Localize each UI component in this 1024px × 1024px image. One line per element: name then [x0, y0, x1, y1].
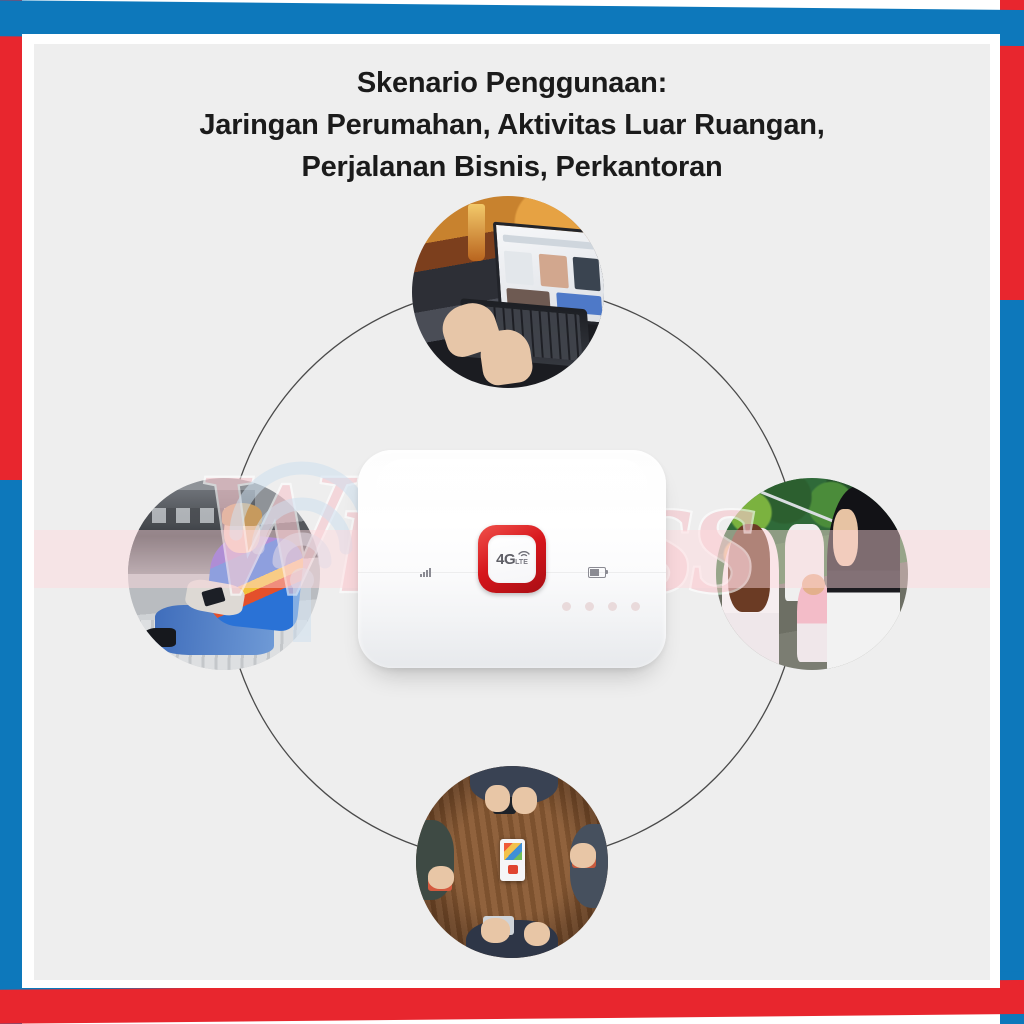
shoe: [143, 628, 176, 647]
hand-2: [512, 787, 537, 814]
laptop-desk-photo: [412, 196, 604, 388]
router-button: [508, 865, 518, 874]
led-2: [585, 602, 594, 611]
led-1: [562, 602, 571, 611]
4g-text: 4G: [496, 551, 515, 568]
group-around-table-photo: [416, 766, 608, 958]
frame-left-red-band: [0, 0, 22, 1024]
scenario-bubble-outdoor[interactable]: [716, 478, 908, 670]
router-on-table: [500, 839, 525, 881]
hand-6: [524, 922, 551, 947]
hair: [222, 503, 262, 526]
scenario-bubble-office[interactable]: [412, 196, 604, 388]
scenario-bubble-business-travel[interactable]: [128, 478, 320, 670]
product-card: Skenario Penggunaan: Jaringan Perumahan,…: [0, 0, 1024, 1024]
frame-right-blue-band: [1000, 300, 1024, 1024]
hand-5: [481, 918, 510, 943]
battery-icon: [588, 567, 606, 578]
led-3: [608, 602, 617, 611]
wifi-arc-icon: [518, 547, 530, 557]
woman-right-arm: [833, 509, 858, 567]
outdoor-selfie-photo: [716, 478, 908, 670]
router-power-button-face: 4GLTE: [488, 535, 536, 583]
router-gloss-highlight: [376, 459, 647, 533]
router-power-button[interactable]: 4GLTE: [478, 525, 546, 593]
man-with-phone-photo: [128, 478, 320, 670]
scenario-bubble-home-network[interactable]: [416, 766, 608, 958]
lte-text: LTE: [515, 559, 528, 566]
drink-glass: [468, 204, 485, 262]
frame-right-red-band: [1000, 0, 1024, 540]
frame-top-blue-band: [0, 0, 1024, 46]
led-4: [631, 602, 640, 611]
signal-bars-icon: [420, 567, 431, 577]
content-stage: Skenario Penggunaan: Jaringan Perumahan,…: [34, 44, 990, 980]
frame-left-blue-band: [0, 480, 22, 1024]
woman-left-hair: [728, 524, 770, 612]
hand-4: [570, 843, 597, 868]
frame-bottom-red-band: [0, 980, 1024, 1024]
4g-lte-mobile-wifi-router[interactable]: 4GLTE: [358, 450, 666, 668]
hand-1: [485, 785, 510, 812]
led-indicator-group: [562, 602, 640, 611]
router-screen: [504, 843, 522, 860]
4g-lte-label: 4GLTE: [496, 552, 528, 567]
hand-3: [428, 866, 455, 889]
